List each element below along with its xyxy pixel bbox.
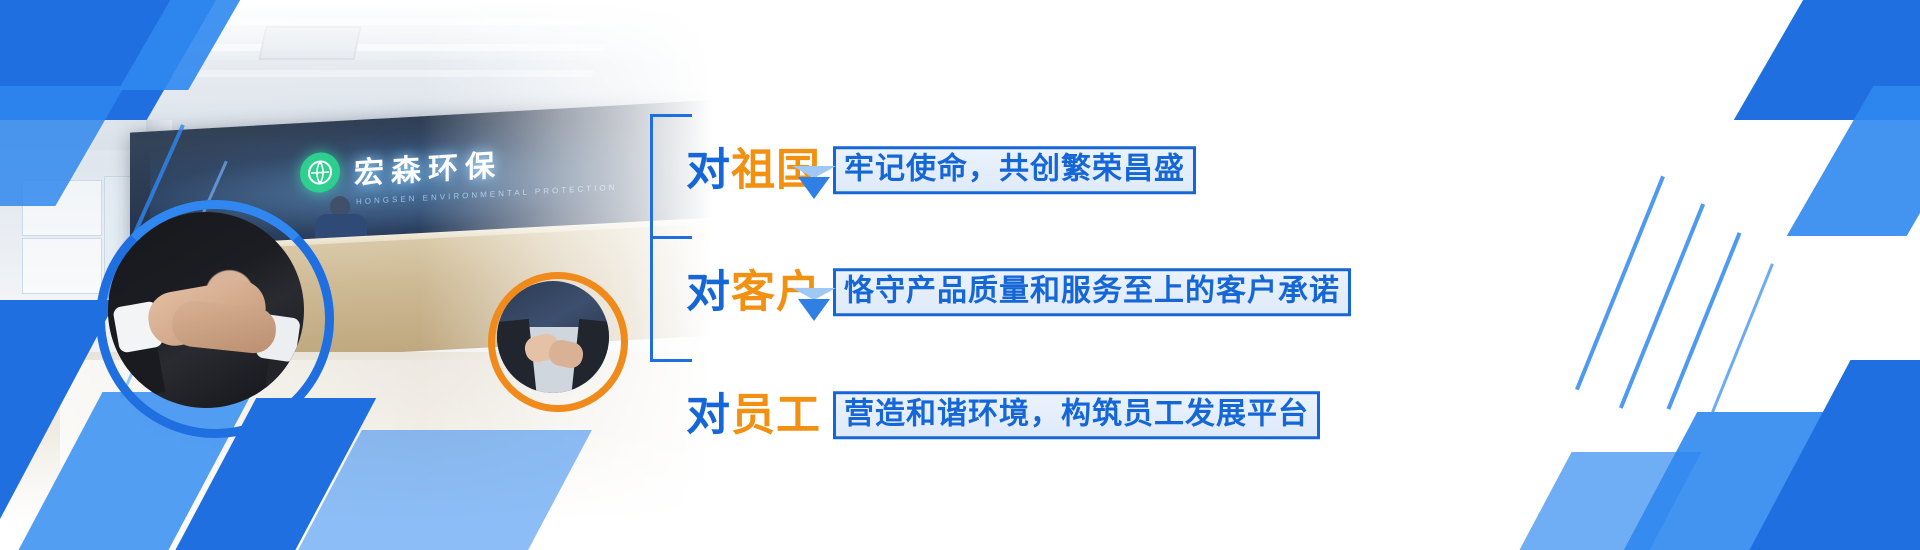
culture-row-employee: 对员工 营造和谐环境，构筑员工发展平台	[686, 391, 1320, 439]
culture-prefix: 对	[686, 390, 731, 439]
culture-row-customer: 对客户 恪守产品质量和服务至上的客户承诺	[686, 268, 1351, 316]
arrow-down-icon	[798, 299, 830, 321]
tree-branch-connector	[650, 236, 692, 239]
decorative-line-right	[1711, 263, 1774, 412]
tree-branch-connector	[650, 359, 692, 362]
business-people-photo-ring	[488, 272, 628, 412]
culture-prefix: 对	[686, 145, 731, 194]
culture-statement: 营造和谐环境，构筑员工发展平台	[833, 391, 1320, 439]
culture-highlight: 员工	[731, 390, 821, 439]
culture-statement: 恪守产品质量和服务至上的客户承诺	[833, 268, 1351, 316]
globe-leaf-icon	[300, 151, 340, 193]
culture-statement: 牢记使命，共创繁荣昌盛	[833, 146, 1196, 194]
handshake-photo-ring	[96, 200, 334, 438]
culture-statement-tree: 对祖国 牢记使命，共创繁荣昌盛 对客户 恪守产品质量和服务至上的客户承诺 对员工…	[650, 84, 1350, 384]
arrow-down-icon	[798, 177, 830, 199]
culture-row-country: 对祖国 牢记使命，共创繁荣昌盛	[686, 146, 1196, 194]
culture-row-lead: 对员工	[686, 393, 821, 437]
company-culture-banner: 宏森环保 HONGSEN ENVIRONMENTAL PROTECTION	[0, 0, 1920, 550]
tree-branch-connector	[650, 114, 692, 117]
decorative-line-right	[1619, 203, 1705, 408]
decorative-line-right	[1575, 176, 1665, 391]
window-pane	[22, 238, 102, 294]
culture-prefix: 对	[686, 267, 731, 316]
